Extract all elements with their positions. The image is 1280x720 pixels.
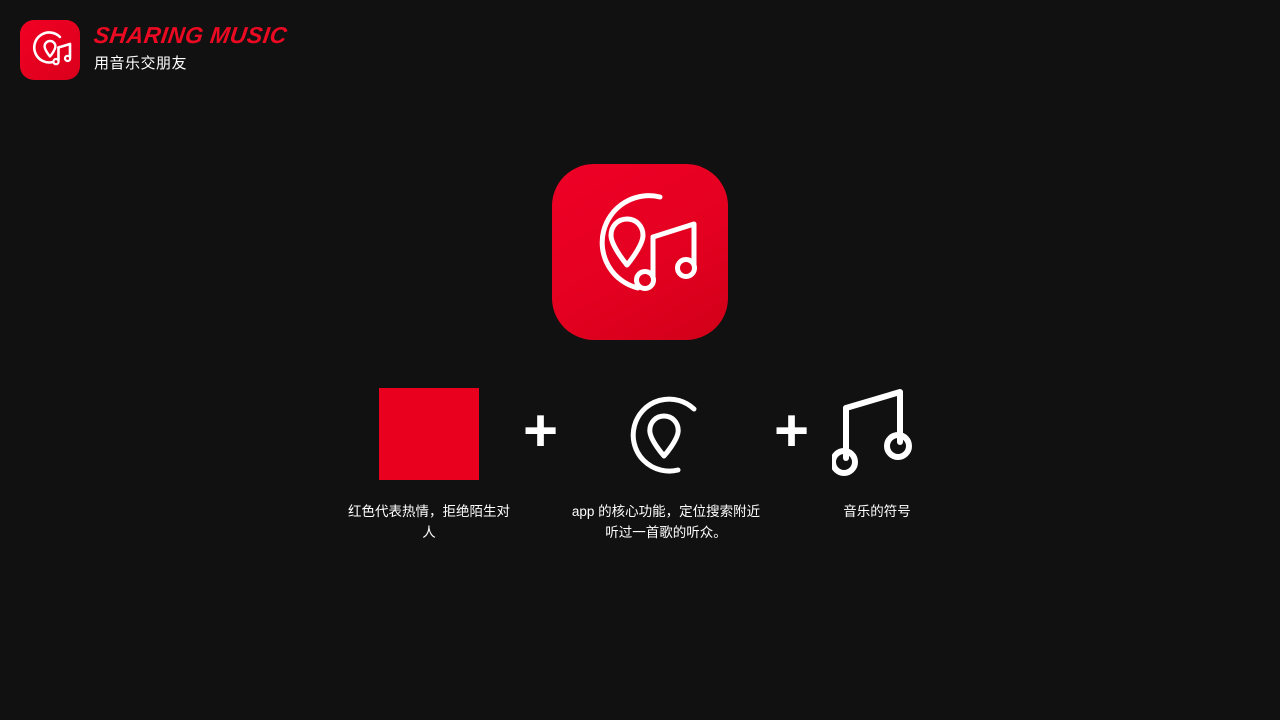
music-note-icon (832, 384, 922, 484)
concept-formula-row: 红色代表热情，拒绝陌生对人 + app 的核心功能，定位搜索附近听过一首歌的听众… (340, 382, 940, 544)
sharing-music-app-icon (20, 20, 80, 80)
app-icon-large-mark (552, 164, 728, 340)
formula-caption: app 的核心功能，定位搜索附近听过一首歌的听众。 (566, 502, 766, 544)
formula-caption: 音乐的符号 (817, 502, 937, 523)
plus-operator-2: + (774, 382, 809, 486)
plus-operator-1: + (523, 382, 558, 486)
brand-header: SHARING MUSIC 用音乐交朋友 (20, 20, 287, 80)
formula-caption: 红色代表热情，拒绝陌生对人 (343, 502, 515, 544)
glyph-container (379, 382, 479, 486)
red-square-swatch (379, 388, 479, 480)
sharing-music-app-icon-large (552, 164, 728, 340)
slide-canvas: SHARING MUSIC 用音乐交朋友 红色代表热情，拒绝陌生对人 + (0, 0, 1280, 720)
formula-item-location-pin: app 的核心功能，定位搜索附近听过一首歌的听众。 (566, 382, 766, 544)
brand-text-block: SHARING MUSIC 用音乐交朋友 (94, 20, 287, 71)
formula-item-red-square: 红色代表热情，拒绝陌生对人 (343, 382, 515, 544)
location-pin-circle-icon (616, 384, 716, 484)
brand-title: SHARING MUSIC (92, 24, 288, 47)
brand-subtitle: 用音乐交朋友 (94, 56, 287, 71)
formula-item-music-note: 音乐的符号 (817, 382, 937, 523)
glyph-container (616, 382, 716, 486)
glyph-container (832, 382, 922, 486)
app-icon-logo-mark (20, 20, 80, 80)
